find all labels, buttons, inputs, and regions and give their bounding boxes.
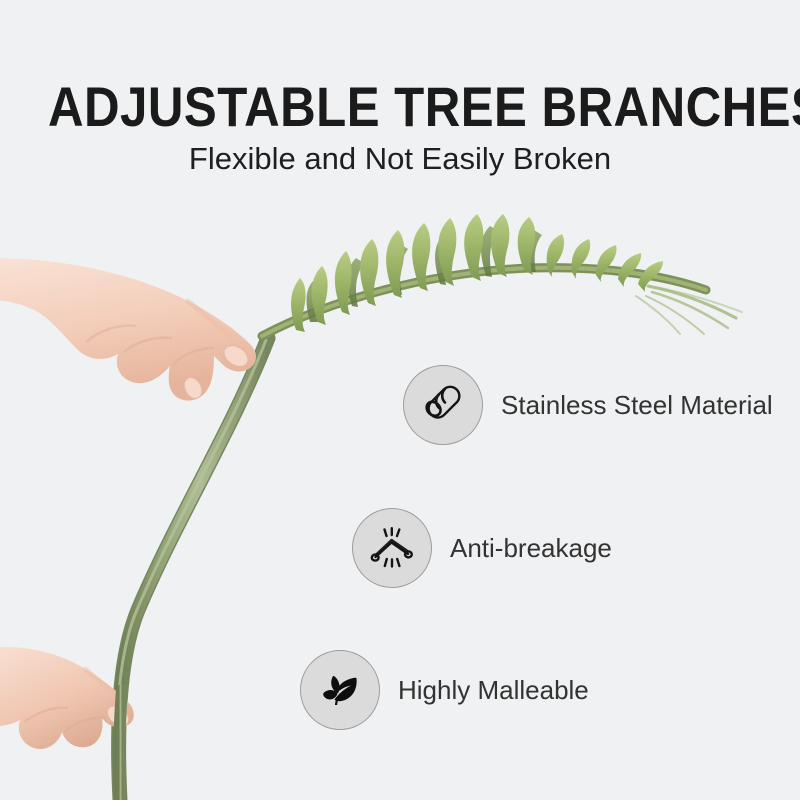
feature-label: Stainless Steel Material xyxy=(501,390,773,420)
feature-item-highly-malleable: Highly Malleable xyxy=(300,650,589,730)
feature-item-anti-breakage: Anti-breakage xyxy=(352,508,612,588)
feature-label: Anti-breakage xyxy=(450,533,612,563)
product-feature-banner: ADJUSTABLE TREE BRANCHES Flexible and No… xyxy=(0,0,800,800)
feature-item-stainless-steel-material: Stainless Steel Material xyxy=(403,365,773,445)
feature-list: Stainless Steel Material xyxy=(0,0,800,800)
steel-rod-icon xyxy=(403,365,483,445)
feature-label: Highly Malleable xyxy=(398,675,589,705)
bent-rod-icon xyxy=(352,508,432,588)
leaves-icon xyxy=(300,650,380,730)
